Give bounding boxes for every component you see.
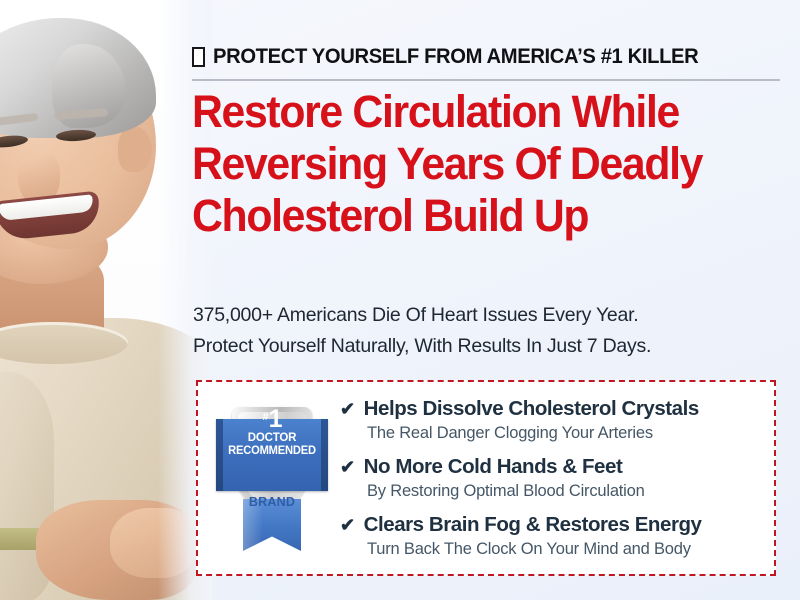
eyebrow: PROTECT YOURSELF FROM AMERICA’S #1 KILLE… [192, 44, 782, 69]
benefit-heading-row: ✔ Clears Brain Fog & Restores Energy [340, 512, 764, 538]
doctor-recommended-badge-icon: #1 DOCTOR RECOMMENDED BRAND [216, 403, 328, 553]
content-column: PROTECT YOURSELF FROM AMERICA’S #1 KILLE… [192, 0, 788, 600]
badge-line-3: BRAND [216, 495, 328, 509]
benefit-heading-row: ✔ No More Cold Hands & Feet [340, 454, 764, 480]
landing-page-hero: PROTECT YOURSELF FROM AMERICA’S #1 KILLE… [0, 0, 800, 600]
subheadline-line-1: 375,000+ Americans Die Of Heart Issues E… [193, 304, 638, 326]
badge-line-1: DOCTOR [216, 432, 328, 444]
checkmark-icon: ✔ [340, 455, 355, 480]
badge-number: #1 [216, 405, 328, 432]
page-title: Restore Circulation While Reversing Year… [192, 86, 743, 242]
badge-line-2: RECOMMENDED [218, 445, 327, 457]
benefit-title: Clears Brain Fog & Restores Energy [364, 512, 702, 537]
subheadline-line-2: Protect Yourself Naturally, With Results… [193, 331, 778, 362]
checkmark-icon: ✔ [340, 397, 355, 422]
eyebrow-label: PROTECT YOURSELF FROM AMERICA’S #1 KILLE… [213, 44, 698, 69]
list-item: ✔ Helps Dissolve Cholesterol Crystals Th… [340, 396, 764, 445]
benefit-subtitle: The Real Danger Clogging Your Arteries [367, 422, 764, 445]
hero-photo-senior-man [0, 0, 212, 600]
benefits-list: ✔ Helps Dissolve Cholesterol Crystals Th… [328, 396, 774, 561]
benefit-subtitle: By Restoring Optimal Blood Circulation [367, 480, 764, 503]
header-divider [192, 79, 780, 81]
list-item: ✔ No More Cold Hands & Feet By Restoring… [340, 454, 764, 503]
badge-hash: # [262, 411, 267, 423]
benefit-title: No More Cold Hands & Feet [364, 454, 623, 479]
missing-glyph-box-icon [192, 47, 205, 67]
benefit-heading-row: ✔ Helps Dissolve Cholesterol Crystals [340, 396, 764, 422]
checkmark-icon: ✔ [340, 513, 355, 538]
benefit-title: Helps Dissolve Cholesterol Crystals [364, 396, 699, 421]
benefit-subtitle: Turn Back The Clock On Your Mind and Bod… [367, 538, 764, 561]
ear [118, 126, 152, 172]
benefits-box: #1 DOCTOR RECOMMENDED BRAND ✔ Helps Diss… [196, 380, 776, 576]
subheadline: 375,000+ Americans Die Of Heart Issues E… [193, 300, 778, 362]
badge-number-value: 1 [269, 405, 282, 433]
list-item: ✔ Clears Brain Fog & Restores Energy Tur… [340, 512, 764, 561]
